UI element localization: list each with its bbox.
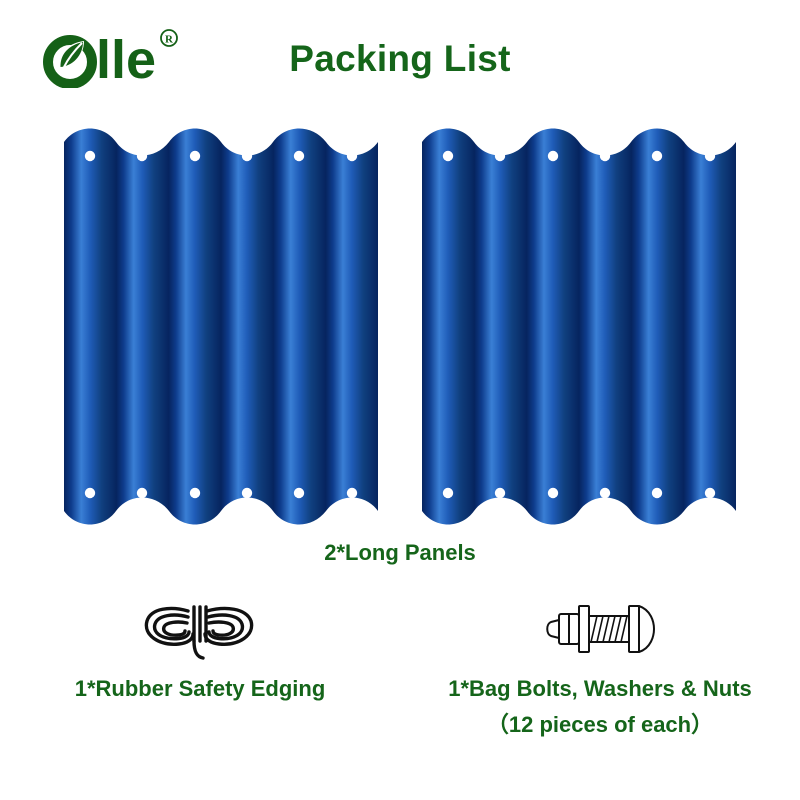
accessory-bolts-washers-nuts: 1*Bag Bolts, Washers & Nuts （12 pieces o… xyxy=(400,588,800,739)
accessory-label: 1*Rubber Safety Edging xyxy=(0,674,400,704)
long-panel-right xyxy=(422,124,736,529)
rope-coil-icon xyxy=(0,588,400,670)
bolt-washer-nut-icon xyxy=(400,588,800,670)
accessory-row: 1*Rubber Safety Edging xyxy=(0,588,800,778)
packing-list-page: lle R Packing List xyxy=(0,0,800,800)
page-title: Packing List xyxy=(0,38,800,80)
panels-row xyxy=(0,124,800,534)
long-panel-left xyxy=(64,124,378,529)
accessory-sublabel: （12 pieces of each） xyxy=(400,710,800,740)
accessory-rubber-edging: 1*Rubber Safety Edging xyxy=(0,588,400,710)
accessory-label: 1*Bag Bolts, Washers & Nuts xyxy=(400,674,800,704)
panels-caption: 2*Long Panels xyxy=(0,540,800,566)
